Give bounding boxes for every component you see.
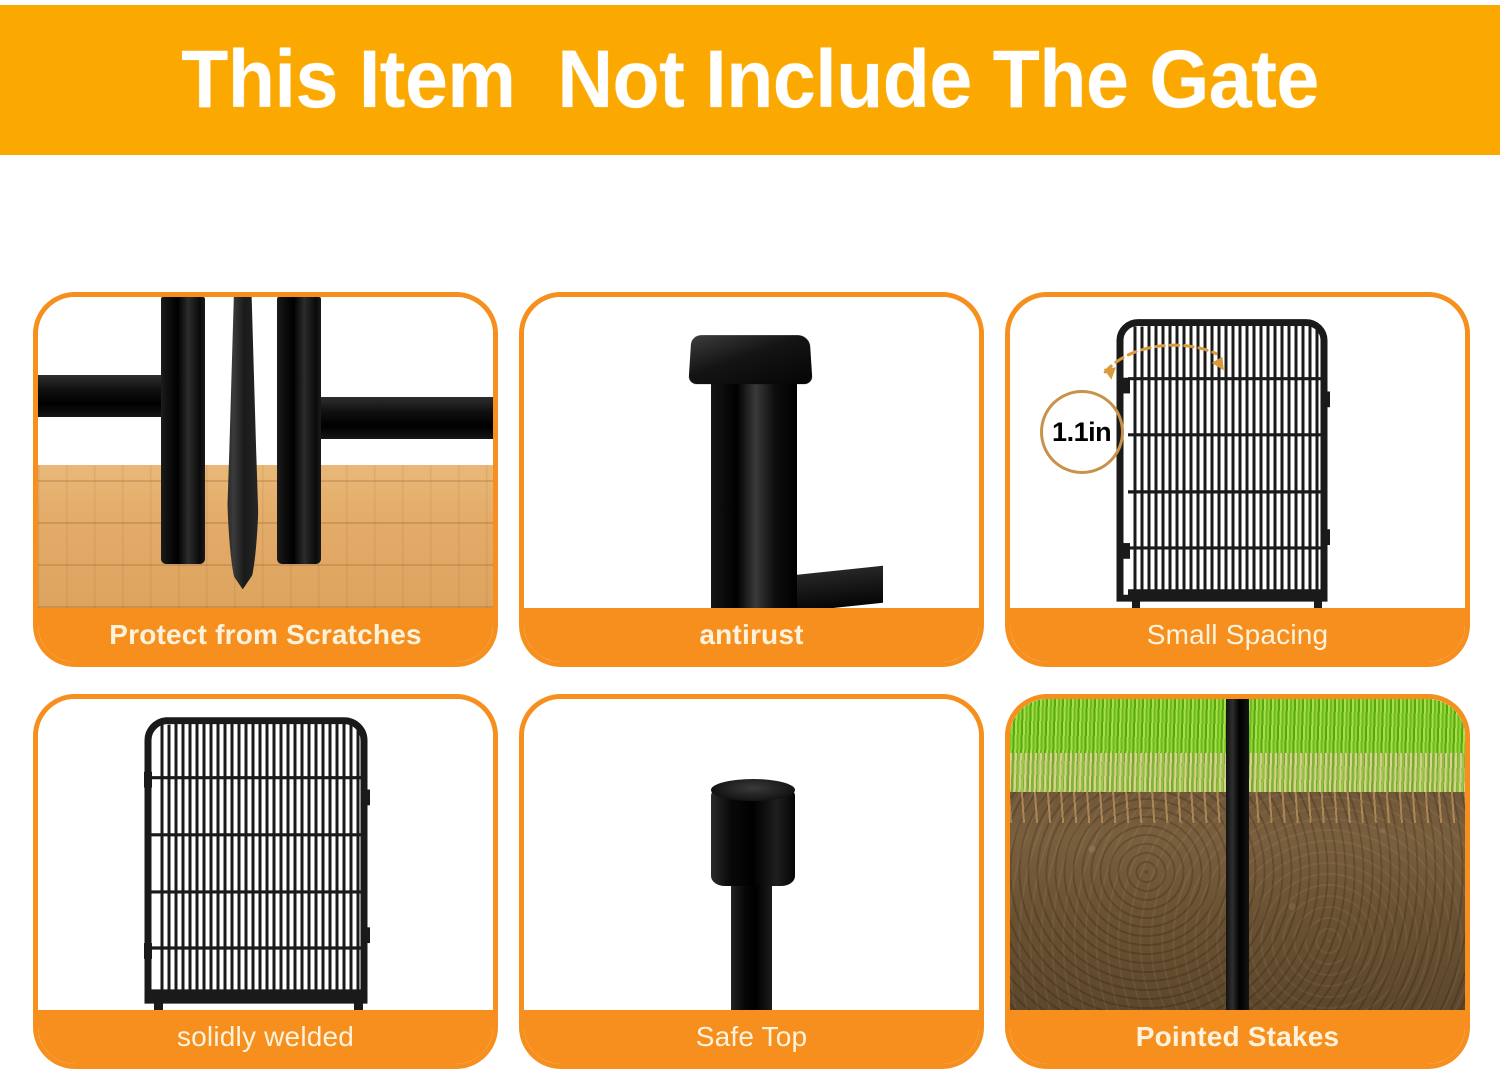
feature-panel-small-spacing: 1.1in Small Spacing xyxy=(1005,292,1470,667)
spacing-annotation-badge: 1.1in xyxy=(1040,390,1124,474)
panel-caption-protect-from-scratches: Protect from Scratches xyxy=(38,608,493,662)
feature-panel-pointed-stakes: Pointed Stakes xyxy=(1005,694,1470,1069)
soil-cross-section-graphic xyxy=(1010,699,1465,1010)
square-post-cap-graphic xyxy=(688,335,812,384)
feature-panel-solidly-welded: solidly welded xyxy=(33,694,498,1069)
header-banner: This Item Not Include The Gate xyxy=(0,5,1500,155)
panel-caption-pointed-stakes: Pointed Stakes xyxy=(1010,1010,1465,1064)
panel-caption-safe-top: Safe Top xyxy=(524,1010,979,1064)
panel-caption-small-spacing: Small Spacing xyxy=(1010,608,1465,662)
post-base-graphic xyxy=(783,565,883,608)
page-title: This Item Not Include The Gate xyxy=(181,33,1319,127)
fence-post-left-graphic xyxy=(161,297,205,564)
panel-image-antirust xyxy=(524,297,979,608)
welded-fence-svg xyxy=(38,699,493,1010)
feature-panel-protect-from-scratches: Protect from Scratches xyxy=(33,292,498,667)
spacing-annotation-value: 1.1in xyxy=(1052,417,1111,448)
panel-image-pointed-stakes xyxy=(1010,699,1465,1010)
round-safety-cap-graphic xyxy=(711,786,795,886)
fence-rail-right-graphic xyxy=(316,397,493,439)
square-post-body-graphic xyxy=(711,365,797,608)
panel-image-protect-from-scratches xyxy=(38,297,493,608)
panel-image-safe-top xyxy=(524,699,979,1010)
panel-caption-solidly-welded: solidly welded xyxy=(38,1010,493,1064)
panel-image-small-spacing: 1.1in xyxy=(1010,297,1465,608)
wood-floor-graphic xyxy=(38,465,493,608)
rubber-stake-graphic xyxy=(227,297,259,589)
feature-panel-safe-top: Safe Top xyxy=(519,694,984,1069)
feature-panel-antirust: antirust xyxy=(519,292,984,667)
feature-grid: Protect from Scratches antirust xyxy=(33,292,1470,1070)
pointed-stake-graphic xyxy=(1226,699,1249,1010)
panel-caption-antirust: antirust xyxy=(524,608,979,662)
welded-fence-panel-graphic xyxy=(38,699,493,1010)
panel-image-solidly-welded xyxy=(38,699,493,1010)
stake-shaft-graphic xyxy=(731,876,772,1010)
fence-rail-left-graphic xyxy=(38,375,170,417)
fence-post-right-graphic xyxy=(277,297,321,564)
